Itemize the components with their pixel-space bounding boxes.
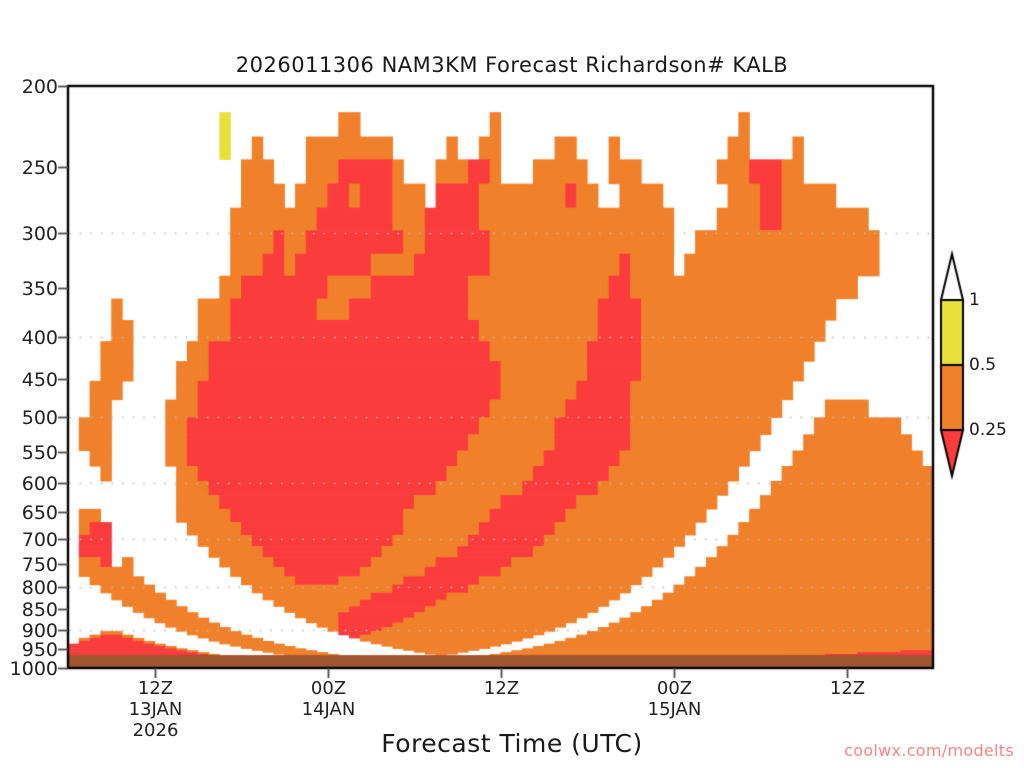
watermark-link[interactable]: coolwx.com/modelts <box>0 741 1014 760</box>
y-axis-tick-label: 400 <box>22 327 58 349</box>
x-axis-tick-2: 12Z <box>442 678 562 699</box>
x-tick-time: 12Z <box>788 678 908 699</box>
y-axis-tick-label: 550 <box>22 442 58 464</box>
x-tick-time: 00Z <box>615 678 735 699</box>
x-tick-time: 12Z <box>442 678 562 699</box>
x-tick-year: 2026 <box>96 720 216 741</box>
y-axis-tick-label: 600 <box>22 473 58 495</box>
y-axis-tick-label: 700 <box>22 529 58 551</box>
y-axis-tick-label: 850 <box>22 599 58 621</box>
chart-page: 2026011306 NAM3KM Forecast Richardson# K… <box>0 0 1024 768</box>
x-axis-tick-1: 00Z14JAN <box>269 678 389 720</box>
page-title: 2026011306 NAM3KM Forecast Richardson# K… <box>0 53 1024 77</box>
y-axis-tick-label: 250 <box>22 157 58 179</box>
y-axis-tick-label: 1000 <box>10 658 58 680</box>
x-tick-date: 15JAN <box>615 699 735 720</box>
colorbar-tick-label-1: 1 <box>969 290 980 310</box>
y-axis-tick-label: 200 <box>22 76 58 98</box>
x-axis-tick-0: 12Z13JAN2026 <box>96 678 216 741</box>
colorbar-tick-label-0.5: 0.5 <box>969 355 996 375</box>
y-axis-tick-label: 650 <box>22 502 58 524</box>
x-axis-tick-4: 12Z <box>788 678 908 699</box>
x-axis-tick-3: 00Z15JAN <box>615 678 735 720</box>
x-tick-time: 00Z <box>269 678 389 699</box>
y-axis-tick-label: 300 <box>22 223 58 245</box>
richardson-number-heatmap-canvas <box>0 0 1024 768</box>
y-axis-tick-label: 800 <box>22 577 58 599</box>
x-tick-date: 13JAN <box>96 699 216 720</box>
y-axis-tick-label: 350 <box>22 278 58 300</box>
y-axis-tick-label: 500 <box>22 407 58 429</box>
x-tick-date: 14JAN <box>269 699 389 720</box>
y-axis-tick-label: 450 <box>22 369 58 391</box>
x-tick-time: 12Z <box>96 678 216 699</box>
y-axis-tick-label: 750 <box>22 554 58 576</box>
colorbar-tick-label-0.25: 0.25 <box>969 420 1007 440</box>
